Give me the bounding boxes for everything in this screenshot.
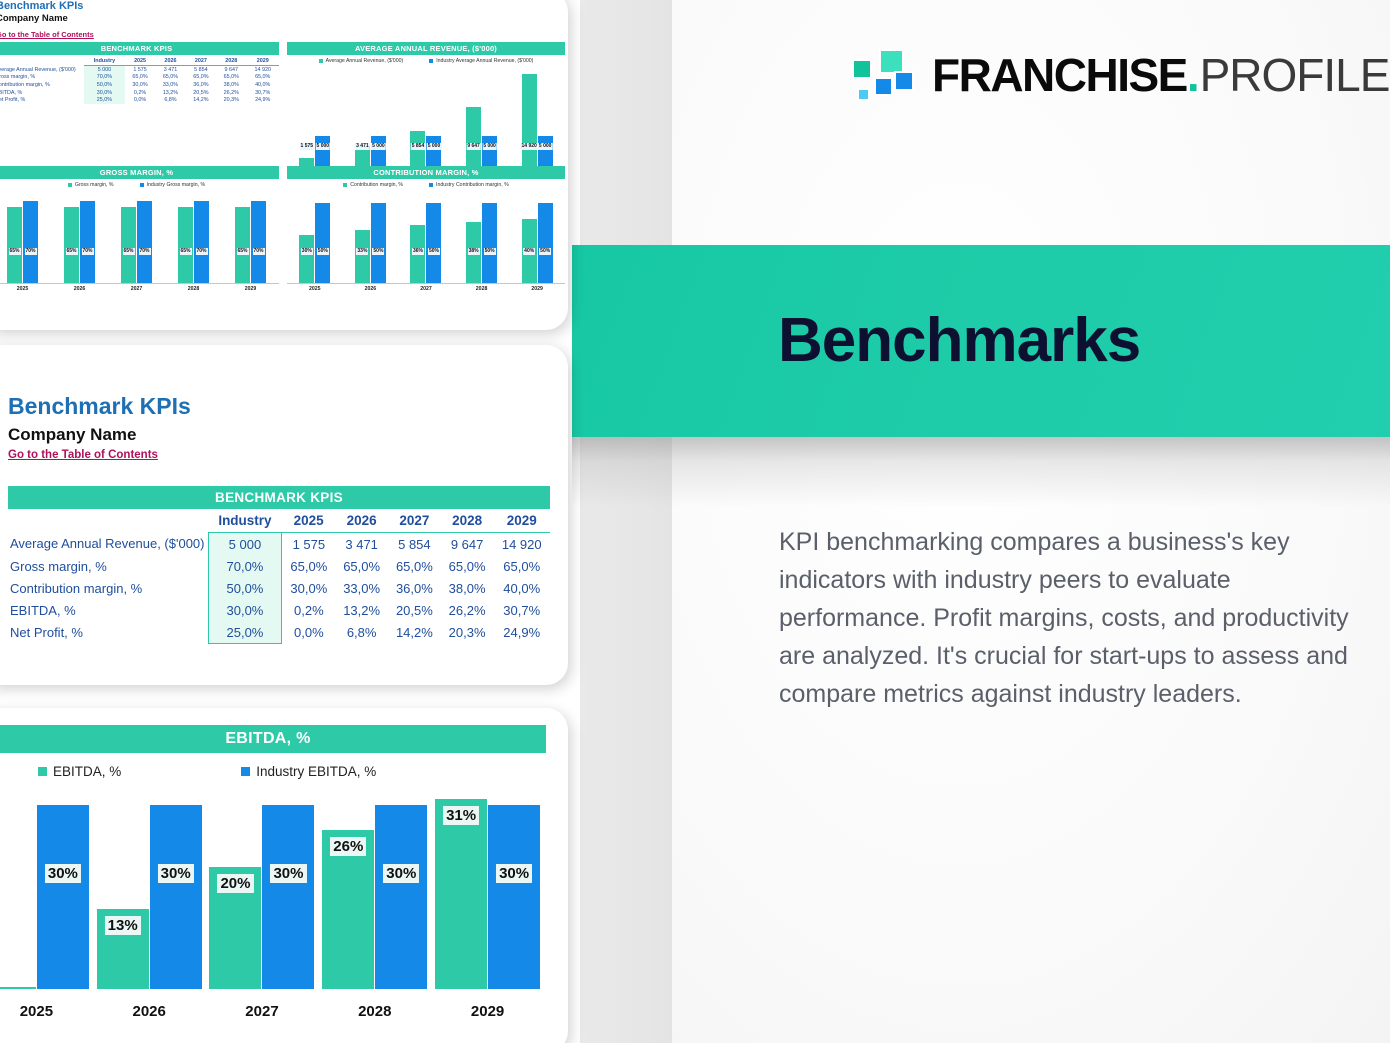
bar-value-label: 70% [195, 248, 207, 256]
axis-tick-label: 2027 [131, 286, 143, 292]
axis-tick-label: 2026 [133, 1003, 166, 1020]
bar-value-label: 20% [217, 874, 253, 893]
mini-kpi-table-panel: BENCHMARK KPIS Industry20252026202720282… [0, 42, 279, 104]
mini-gross-margin-panel: GROSS MARGIN, % Gross margin, % Industry… [0, 166, 279, 292]
bar-value-label: 5 000 [538, 143, 553, 151]
value-cell: 65,0% [388, 555, 441, 577]
bar-value-label: 50% [317, 248, 329, 256]
bar-group: 65%70% [178, 201, 209, 283]
value-cell: 0,0% [125, 96, 155, 104]
value-cell: 30,0% [282, 577, 335, 599]
bar-value-label: 9 647 [466, 143, 481, 151]
value-cell: 36,0% [186, 81, 216, 89]
value-cell: 40,0% [493, 577, 550, 599]
bar: 70% [137, 201, 152, 283]
industry-cell: 70,0% [84, 74, 125, 82]
bar-value-label: 30% [158, 864, 194, 883]
mini-gross-margin-title: GROSS MARGIN, % [0, 166, 279, 179]
legend-swatch-green-icon [38, 767, 47, 776]
bar: 65% [7, 207, 22, 283]
bar: 0% [0, 987, 36, 989]
bar-value-label: 70% [81, 248, 93, 256]
bar-group: 9 6475 000 [466, 107, 497, 168]
bar-value-label: 65% [65, 248, 77, 256]
bar-value-label: 70% [252, 248, 264, 256]
bar: 30% [299, 235, 314, 283]
axis-tick-label: 2029 [245, 286, 257, 292]
value-cell: 3 471 [155, 66, 185, 74]
row-label: EBITDA, % [8, 599, 208, 621]
value-cell: 30,7% [493, 599, 550, 621]
axis-tick-label: 2028 [358, 1003, 391, 1020]
value-cell: 38,0% [441, 577, 494, 599]
bar-value-label: 65% [179, 248, 191, 256]
bar-value-label: 30% [45, 864, 81, 883]
industry-cell: 25,0% [84, 96, 125, 104]
table-row: Average Annual Revenue, ($'000)5 0001 57… [8, 533, 550, 556]
value-cell: 13,2% [155, 89, 185, 97]
mini-table-body: Average Annual Revenue, ($'000)5 0001 57… [0, 66, 279, 104]
table-row: Net Profit, %25,0%0,0%6,8%14,2%20,3%24,9… [0, 96, 279, 104]
legend-swatch-blue-icon [429, 59, 433, 63]
bar-value-label: 65% [8, 248, 20, 256]
bar-value-label: 14 920 [521, 143, 538, 151]
logo-text-bold: FRANCHISE [932, 49, 1187, 101]
value-cell: 5 854 [186, 66, 216, 74]
industry-cell: 5 000 [208, 533, 282, 556]
bar: 31% [435, 799, 487, 989]
bar-value-label: 5 000 [316, 143, 331, 151]
table-col-header: 2027 [186, 57, 216, 66]
bar-value-label: 5 000 [427, 143, 442, 151]
ebitda-legend: EBITDA, % Industry EBITDA, % [38, 764, 568, 779]
benchmark-kpis-table: Industry20252026202720282029 Average Ann… [8, 509, 550, 644]
table-col-header: 2025 [282, 509, 335, 533]
table-of-contents-link[interactable]: Go to the Table of Contents [0, 30, 94, 39]
background-gray-band [580, 0, 672, 1043]
axis-tick-label: 2028 [188, 286, 200, 292]
value-cell: 1 575 [282, 533, 335, 556]
row-label: Net Profit, % [0, 96, 84, 104]
table-col-header: Industry [208, 509, 282, 533]
bar: 5 000 [426, 136, 441, 168]
ebitda-chart-content: EBITDA, % EBITDA, % Industry EBITDA, % 0… [0, 708, 568, 1043]
bar-value-label: 31% [443, 806, 479, 825]
mini-table-head-row: Industry20252026202720282029 [0, 57, 279, 66]
table-row: Average Annual Revenue, ($'000)5 0001 57… [0, 66, 279, 74]
row-label: Gross margin, % [8, 555, 208, 577]
bar-value-label: 13% [105, 916, 141, 935]
bar: 5 000 [482, 136, 497, 168]
ebitda-chart-title: EBITDA, % [0, 725, 546, 753]
axis-tick-label: 2026 [365, 286, 377, 292]
bar-value-label: 38% [468, 248, 480, 256]
value-cell: 20,5% [186, 89, 216, 97]
legend-swatch-green-icon [343, 183, 347, 187]
value-cell: 65,0% [441, 555, 494, 577]
axis-tick-label: 2025 [309, 286, 321, 292]
bar-value-label: 5 854 [411, 143, 426, 151]
value-cell: 14,2% [388, 621, 441, 644]
bar: 36% [410, 225, 425, 283]
row-label: EBITDA, % [0, 89, 84, 97]
bar-group: 13%30% [97, 793, 202, 989]
mini-contribution-margin-axis: 20252026202720282029 [287, 286, 565, 292]
bar: 40% [522, 219, 537, 283]
benchmark-company: Company Name [8, 425, 550, 445]
mini-gross-margin-axis: 20252026202720282029 [0, 286, 279, 292]
industry-cell: 50,0% [208, 577, 282, 599]
bar: 3 471 [355, 146, 370, 168]
table-col-header: 2026 [155, 57, 185, 66]
page-title: Benchmarks [778, 305, 1140, 376]
bar-value-label: 40% [523, 248, 535, 256]
table-col-header: 2027 [388, 509, 441, 533]
value-cell: 0,0% [282, 621, 335, 644]
legend-swatch-green-icon [68, 183, 72, 187]
axis-tick-label: 2027 [245, 1003, 278, 1020]
bar: 5 000 [538, 136, 553, 168]
table-col-header: Industry [84, 57, 125, 66]
legend-swatch-green-icon [319, 59, 323, 63]
value-cell: 33,0% [155, 81, 185, 89]
sheet-company: Company Name [0, 13, 562, 24]
bar-group: 14 9205 000 [522, 74, 553, 168]
table-col-header: 2026 [335, 509, 388, 533]
row-label: Average Annual Revenue, ($'000) [0, 66, 84, 74]
bar: 65% [178, 207, 193, 283]
bar: 50% [426, 203, 441, 283]
bar-group: 1 5755 000 [299, 136, 330, 168]
table-col-header: 2028 [216, 57, 246, 66]
table-row: Contribution margin, %50,0%30,0%33,0%36,… [8, 577, 550, 599]
table-head-row: Industry20252026202720282029 [8, 509, 550, 533]
value-cell: 0,2% [282, 599, 335, 621]
bar: 50% [371, 203, 386, 283]
bar: 70% [251, 201, 266, 283]
bar: 70% [194, 201, 209, 283]
axis-tick-label: 2026 [74, 286, 86, 292]
bar-group: 40%50% [522, 203, 553, 283]
industry-cell: 50,0% [84, 81, 125, 89]
bar: 30% [488, 805, 540, 989]
legend-swatch-blue-icon [241, 767, 250, 776]
value-cell: 36,0% [388, 577, 441, 599]
bar-group: 36%50% [410, 203, 441, 283]
bar: 30% [375, 805, 427, 989]
table-of-contents-link[interactable]: Go to the Table of Contents [8, 449, 158, 461]
bar: 50% [315, 203, 330, 283]
bar: 33% [355, 230, 370, 283]
industry-cell: 25,0% [208, 621, 282, 644]
bar: 65% [64, 207, 79, 283]
value-cell: 0,2% [125, 89, 155, 97]
bar-group: 65%70% [7, 201, 38, 283]
bar-value-label: 70% [24, 248, 36, 256]
table-col-header [0, 57, 84, 66]
value-cell: 65,0% [246, 74, 279, 82]
bar: 20% [209, 867, 261, 990]
mini-revenue-chart-panel: AVERAGE ANNUAL REVENUE, ($'000) Average … [287, 42, 565, 177]
benchmark-table-header: BENCHMARK KPIS [8, 486, 550, 509]
bar: 5 854 [410, 131, 425, 168]
table-row: Gross margin, %70,0%65,0%65,0%65,0%65,0%… [8, 555, 550, 577]
row-label: Gross margin, % [0, 74, 84, 82]
axis-tick-label: 2025 [20, 1003, 53, 1020]
legend-swatch-blue-icon [140, 183, 144, 187]
value-cell: 38,0% [216, 81, 246, 89]
bar-value-label: 5 000 [371, 143, 386, 151]
industry-cell: 70,0% [208, 555, 282, 577]
logo-square-5 [857, 88, 870, 101]
ebitda-chart-card[interactable]: EBITDA, % EBITDA, % Industry EBITDA, % 0… [0, 708, 568, 1043]
benchmark-kpis-table-card[interactable]: Benchmark KPIs Company Name Go to the Ta… [0, 345, 568, 685]
spreadsheet-content: Benchmark KPIs Company Name Go to the Ta… [0, 0, 568, 330]
table-row: Gross margin, %70,0%65,0%65,0%65,0%65,0%… [0, 74, 279, 82]
mini-kpi-table-header: BENCHMARK KPIS [0, 42, 279, 55]
value-cell: 33,0% [335, 577, 388, 599]
bar-group: 30%50% [299, 203, 330, 283]
bar: 13% [97, 909, 149, 989]
value-cell: 1 575 [125, 66, 155, 74]
value-cell: 65,0% [155, 74, 185, 82]
value-cell: 65,0% [186, 74, 216, 82]
value-cell: 24,9% [493, 621, 550, 644]
bar: 30% [37, 805, 89, 989]
bar: 38% [466, 222, 481, 283]
bar-group: 38%50% [466, 203, 497, 283]
value-cell: 14 920 [493, 533, 550, 556]
bar: 9 647 [466, 107, 481, 168]
bar-value-label: 50% [539, 248, 551, 256]
bar-value-label: 30% [383, 864, 419, 883]
table-row: Net Profit, %25,0%0,0%6,8%14,2%20,3%24,9… [8, 621, 550, 644]
bar-group: 65%70% [121, 201, 152, 283]
bar-value-label: 65% [122, 248, 134, 256]
value-cell: 65,0% [493, 555, 550, 577]
value-cell: 65,0% [335, 555, 388, 577]
bar-group: 65%70% [64, 201, 95, 283]
value-cell: 6,8% [155, 96, 185, 104]
value-cell: 5 854 [388, 533, 441, 556]
benchmark-kpis-content: Benchmark KPIs Company Name Go to the Ta… [0, 345, 568, 685]
bar: 30% [150, 805, 202, 989]
bar-group: 26%30% [322, 793, 427, 989]
table-col-header: 2025 [125, 57, 155, 66]
bar: 65% [235, 207, 250, 283]
row-label: Net Profit, % [8, 621, 208, 644]
row-label: Average Annual Revenue, ($'000) [8, 533, 208, 556]
axis-tick-label: 2028 [476, 286, 488, 292]
value-cell: 65,0% [216, 74, 246, 82]
bar-value-label: 65% [236, 248, 248, 256]
bar-value-label: 33% [356, 248, 368, 256]
value-cell: 20,5% [388, 599, 441, 621]
banner-shadow [572, 437, 1390, 507]
value-cell: 30,0% [125, 81, 155, 89]
value-cell: 9 647 [216, 66, 246, 74]
spreadsheet-overview-card[interactable]: Benchmark KPIs Company Name Go to the Ta… [0, 0, 568, 330]
bar-group: 20%30% [209, 793, 314, 989]
ebitda-plot-area: 0%30%13%30%20%30%26%30%31%30% [0, 793, 544, 989]
table-body: Average Annual Revenue, ($'000)5 0001 57… [8, 533, 550, 644]
background-right-panel [672, 0, 1390, 1043]
row-label: Contribution margin, % [0, 81, 84, 89]
bar-value-label: 3 471 [355, 143, 370, 151]
legend-swatch-blue-icon [429, 183, 433, 187]
bar: 5 000 [315, 136, 330, 168]
axis-tick-label: 2027 [420, 286, 432, 292]
ebitda-x-axis: 20252026202720282029 [0, 1003, 544, 1020]
legend-label-industry: Industry EBITDA, % [256, 764, 376, 779]
bar-value-label: 1 575 [300, 143, 315, 151]
bar-value-label: 50% [428, 248, 440, 256]
table-col-header: 2029 [246, 57, 279, 66]
value-cell: 3 471 [335, 533, 388, 556]
bar-value-label: 30% [301, 248, 313, 256]
bar: 14 920 [522, 74, 537, 168]
bar: 5 000 [371, 136, 386, 168]
value-cell: 40,0% [246, 81, 279, 89]
industry-cell: 30,0% [84, 89, 125, 97]
row-label: Contribution margin, % [8, 577, 208, 599]
table-row: EBITDA, %30,0%0,2%13,2%20,5%26,2%30,7% [8, 599, 550, 621]
value-cell: 20,3% [216, 96, 246, 104]
bar-value-label: 70% [138, 248, 150, 256]
value-cell: 65,0% [125, 74, 155, 82]
value-cell: 14,2% [186, 96, 216, 104]
benchmark-title: Benchmark KPIs [8, 393, 550, 420]
value-cell: 20,3% [441, 621, 494, 644]
value-cell: 6,8% [335, 621, 388, 644]
logo-squares-icon [852, 49, 914, 101]
table-row: Contribution margin, %50,0%30,0%33,0%36,… [0, 81, 279, 89]
value-cell: 13,2% [335, 599, 388, 621]
bar-value-label: 5 000 [482, 143, 497, 151]
logo-square-4 [894, 71, 914, 91]
table-col-header [8, 509, 208, 533]
value-cell: 65,0% [282, 555, 335, 577]
value-cell: 14 920 [246, 66, 279, 74]
value-cell: 24,9% [246, 96, 279, 104]
bar: 50% [538, 203, 553, 283]
bar: 50% [482, 203, 497, 283]
table-row: EBITDA, %30,0%0,2%13,2%20,5%26,2%30,7% [0, 89, 279, 97]
logo-text-dot: . [1187, 49, 1200, 101]
description-paragraph: KPI benchmarking compares a business's k… [779, 523, 1364, 713]
logo-square-3 [874, 77, 893, 96]
mini-revenue-chart-title: AVERAGE ANNUAL REVENUE, ($'000) [287, 42, 565, 55]
bar: 70% [80, 201, 95, 283]
value-cell: 26,2% [216, 89, 246, 97]
bar-group: 3 4715 000 [355, 136, 386, 168]
mini-gross-margin-chart: 65%70%65%70%65%70%65%70%65%70% 202520262… [0, 188, 279, 292]
logo-square-1 [852, 59, 872, 79]
bar-value-label: 30% [270, 864, 306, 883]
bar-group: 31%30% [435, 793, 540, 989]
bar: 65% [121, 207, 136, 283]
bar-group: 0%30% [0, 793, 89, 989]
bar-group: 5 8545 000 [410, 131, 441, 168]
bar-group: 33%50% [355, 203, 386, 283]
bar-value-label: 50% [372, 248, 384, 256]
sheet-title: Benchmark KPIs [0, 0, 562, 12]
brand-logo: FRANCHISE.PROFILES [852, 40, 1390, 110]
mini-kpi-table: Industry20252026202720282029 Average Ann… [0, 57, 279, 104]
bar-value-label: 30% [496, 864, 532, 883]
logo-text-thin: PROFILES [1200, 49, 1390, 101]
axis-tick-label: 2025 [17, 286, 29, 292]
axis-tick-label: 2029 [531, 286, 543, 292]
mini-contribution-margin-title: CONTRIBUTION MARGIN, % [287, 166, 565, 179]
value-cell: 9 647 [441, 533, 494, 556]
bar: 26% [322, 830, 374, 989]
axis-tick-label: 2029 [471, 1003, 504, 1020]
bar-group: 65%70% [235, 201, 266, 283]
bar: 30% [262, 805, 314, 989]
bar: 70% [23, 201, 38, 283]
bar-value-label: 50% [484, 248, 496, 256]
value-cell: 26,2% [441, 599, 494, 621]
legend-label-company: EBITDA, % [53, 764, 121, 779]
mini-contribution-margin-panel: CONTRIBUTION MARGIN, % Contribution marg… [287, 166, 565, 292]
bar-value-label: 26% [330, 837, 366, 856]
table-col-header: 2028 [441, 509, 494, 533]
table-col-header: 2029 [493, 509, 550, 533]
value-cell: 30,7% [246, 89, 279, 97]
mini-contribution-margin-chart: 30%50%33%50%36%50%38%50%40%50% 202520262… [287, 188, 565, 292]
bar-value-label: 36% [412, 248, 424, 256]
industry-cell: 5 000 [84, 66, 125, 74]
industry-cell: 30,0% [208, 599, 282, 621]
mini-revenue-chart: 1 5755 0003 4715 0005 8545 0009 6475 000… [287, 64, 565, 177]
logo-wordmark: FRANCHISE.PROFILES [932, 52, 1390, 98]
